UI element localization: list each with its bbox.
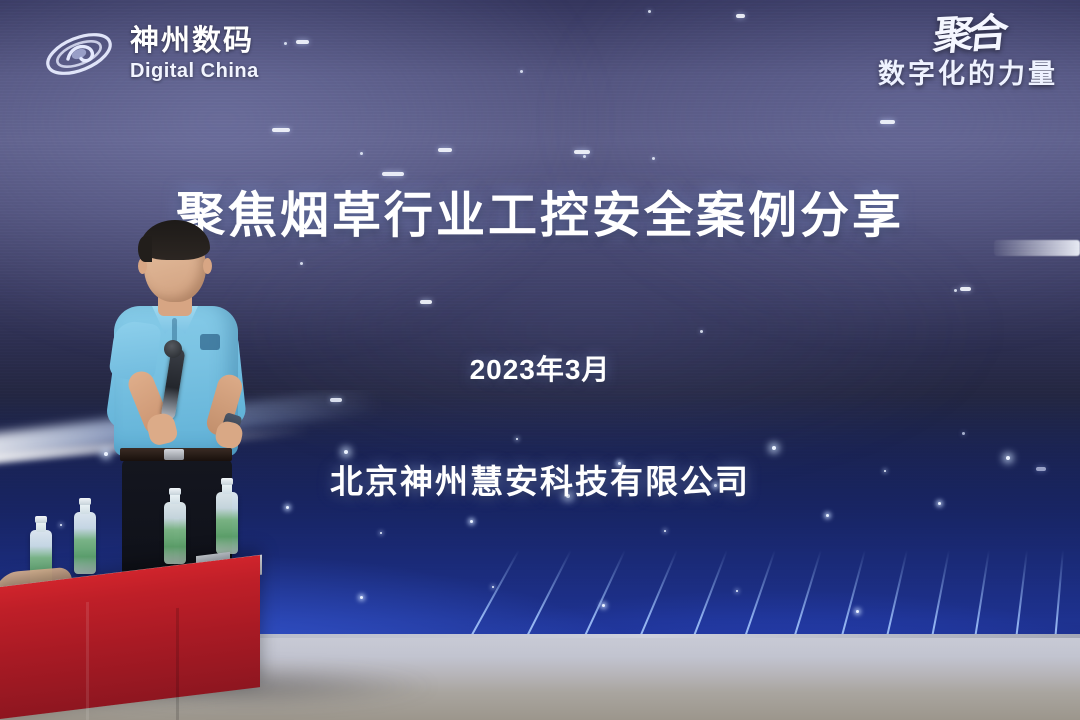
table-fold-shadow — [176, 608, 179, 720]
table-fold-highlight — [86, 602, 89, 720]
event-subtitle: 数字化的力量 — [798, 52, 1058, 91]
spiral-swirl-icon — [42, 23, 116, 85]
wave-sparkle — [772, 446, 776, 450]
wave-sparkle — [516, 438, 518, 440]
wave-sparkle — [286, 506, 289, 509]
water-bottle — [164, 502, 186, 564]
presenter-shirt-logo — [200, 334, 220, 350]
wave-sparkle — [360, 596, 363, 599]
event-calligraphy-text: 聚合 — [932, 14, 1004, 56]
digital-china-logo: 神州数码 Digital China — [42, 18, 282, 90]
wave-sparkle — [856, 610, 859, 613]
event-calligraphy-wrap: 聚合 — [798, 16, 1058, 54]
wave-sparkle — [60, 524, 62, 526]
presenter-hair — [140, 220, 210, 260]
conference-stage-photo: 神州数码 Digital China 聚合 数字化的力量 聚焦烟草行业工控安全案… — [0, 0, 1080, 720]
wave-sparkle — [664, 530, 666, 532]
wave-sparkle — [344, 450, 348, 454]
wave-sparkle — [492, 586, 494, 588]
wave-sparkle — [470, 520, 473, 523]
wave-sparkle — [736, 590, 738, 592]
water-bottle — [216, 492, 238, 554]
presenter-right-ear — [203, 258, 212, 274]
event-theme-logo: 聚合 数字化的力量 — [798, 16, 1058, 114]
wave-sparkle — [602, 604, 605, 607]
logo-chinese-name: 神州数码 — [130, 27, 259, 56]
wave-sparkle — [380, 532, 382, 534]
presenter-belt-buckle — [164, 449, 184, 460]
water-bottle — [74, 512, 96, 574]
wave-sparkle — [826, 514, 829, 517]
digital-china-wordmark: 神州数码 Digital China — [130, 27, 259, 81]
logo-english-name: Digital China — [130, 61, 259, 81]
